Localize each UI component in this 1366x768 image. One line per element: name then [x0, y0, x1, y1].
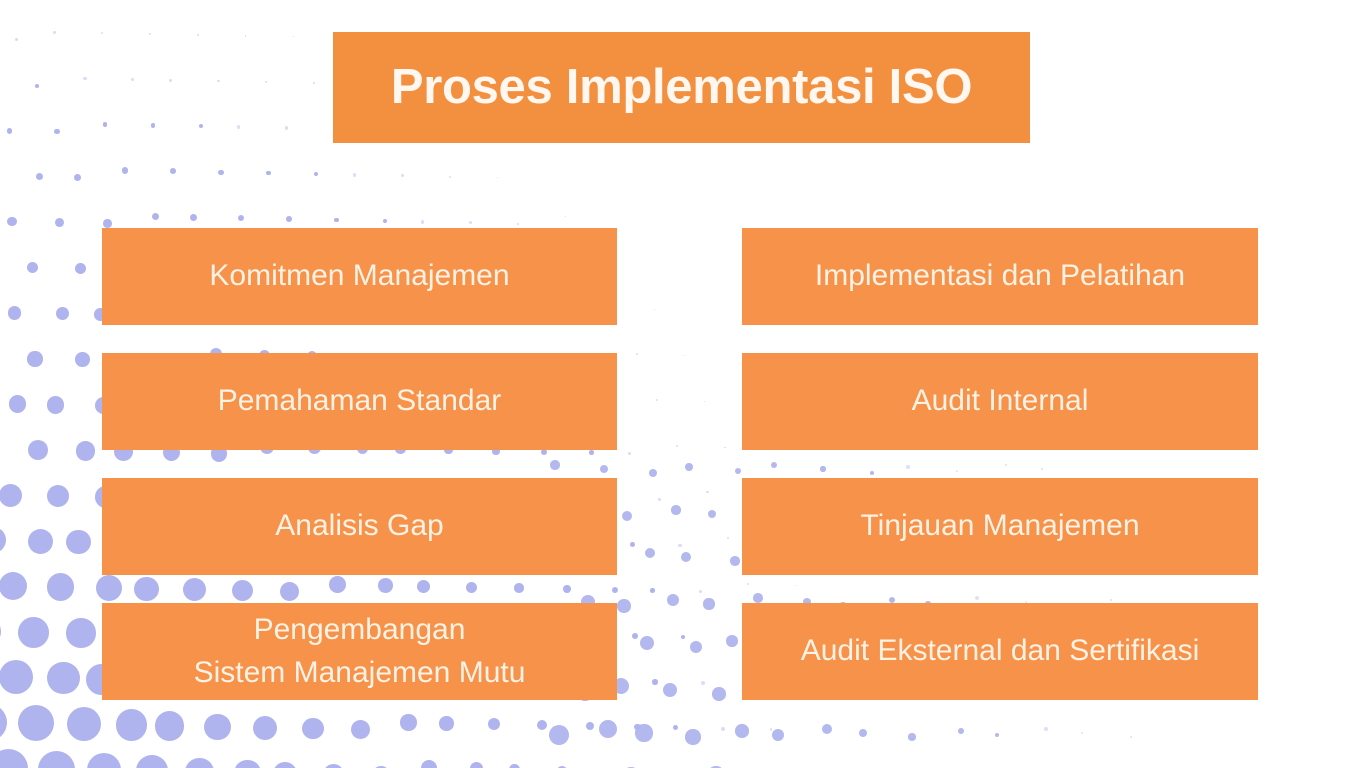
- step-box-audit-eksternal-dan-sertifikasi[interactable]: Audit Eksternal dan Sertifikasi: [742, 603, 1258, 700]
- step-label: Pemahaman Standar: [218, 380, 502, 423]
- slide-canvas: Proses Implementasi ISO Komitmen Manajem…: [0, 0, 1366, 768]
- left-process-column: Komitmen Manajemen Pemahaman Standar Ana…: [102, 228, 617, 700]
- step-box-tinjauan-manajemen[interactable]: Tinjauan Manajemen: [742, 478, 1258, 575]
- step-label: Audit Eksternal dan Sertifikasi: [801, 630, 1200, 673]
- step-box-komitmen-manajemen[interactable]: Komitmen Manajemen: [102, 228, 617, 325]
- step-label: Komitmen Manajemen: [209, 255, 509, 298]
- step-box-pengembangan-sistem-manajemen-mutu[interactable]: Pengembangan Sistem Manajemen Mutu: [102, 603, 617, 700]
- page-title: Proses Implementasi ISO: [391, 63, 972, 112]
- step-label: Tinjauan Manajemen: [860, 505, 1139, 548]
- step-box-analisis-gap[interactable]: Analisis Gap: [102, 478, 617, 575]
- step-label: Implementasi dan Pelatihan: [815, 255, 1185, 298]
- step-box-pemahaman-standar[interactable]: Pemahaman Standar: [102, 353, 617, 450]
- step-label: Analisis Gap: [275, 505, 443, 548]
- step-box-audit-internal[interactable]: Audit Internal: [742, 353, 1258, 450]
- title-band: Proses Implementasi ISO: [333, 32, 1030, 143]
- step-label: Audit Internal: [912, 380, 1089, 423]
- step-box-implementasi-dan-pelatihan[interactable]: Implementasi dan Pelatihan: [742, 228, 1258, 325]
- step-label-line-1: Pengembangan: [254, 609, 466, 652]
- step-label-line-2: Sistem Manajemen Mutu: [194, 652, 526, 695]
- right-process-column: Implementasi dan Pelatihan Audit Interna…: [742, 228, 1258, 700]
